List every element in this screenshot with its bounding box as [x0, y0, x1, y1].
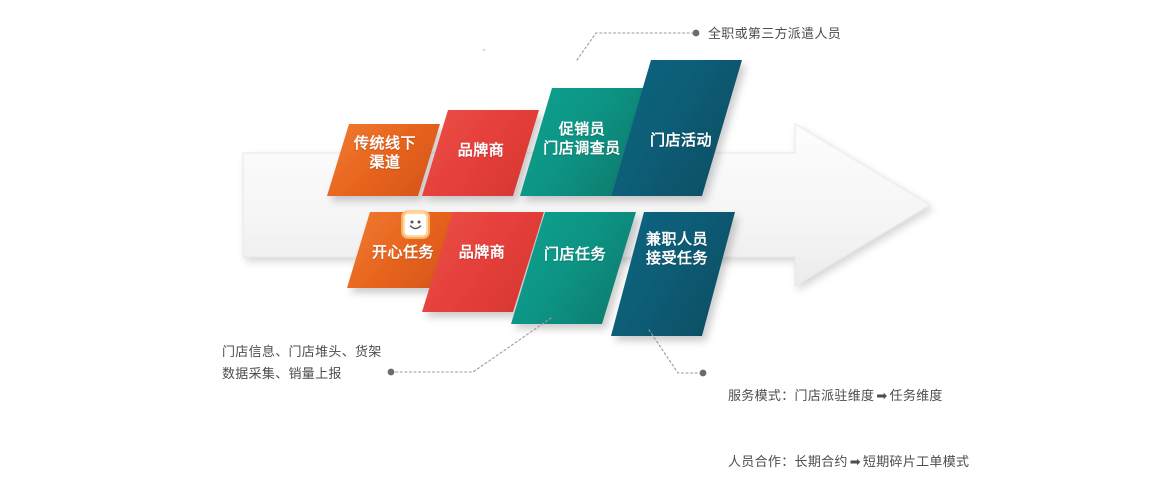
connector-dot-service-mode	[700, 370, 707, 377]
connector-line-data-collection	[388, 318, 551, 375]
connector-dot-staffing	[693, 30, 700, 37]
staff-coop-to: 短期碎片工单模式	[863, 454, 969, 469]
connector-line-staffing	[577, 30, 699, 60]
annotation-staffing-top: 全职或第三方派遣人员	[708, 23, 841, 45]
decorative-speck	[483, 49, 485, 51]
annotation-service-mode-line2: 人员合作：长期合约➡短期碎片工单模式	[728, 429, 969, 473]
service-mode-from: 门店派驻维度	[795, 388, 875, 403]
staff-coop-arrow-icon: ➡	[848, 451, 863, 473]
annotation-data-collection: 门店信息、门店堆头、货架 数据采集、销量上报	[222, 341, 382, 385]
staff-coop-prefix: 人员合作：	[728, 454, 795, 469]
smiley-logo-icon	[403, 212, 428, 237]
connector-line-service-mode	[649, 330, 706, 376]
diagram-canvas: 传统线下 渠道 品牌商 促销员 门店调查员 门店活动 开心任务 品牌商 门店任务…	[0, 0, 1150, 430]
annotation-service-mode: 服务模式：门店派驻维度➡任务维度 人员合作：长期合约➡短期碎片工单模式	[728, 341, 969, 495]
service-mode-to: 任务维度	[890, 388, 943, 403]
staff-coop-from: 长期合约	[795, 454, 848, 469]
annotation-service-mode-line1: 服务模式：门店派驻维度➡任务维度	[728, 363, 969, 407]
diagram-vector-layer	[0, 0, 1150, 430]
service-mode-prefix: 服务模式：	[728, 388, 795, 403]
service-mode-arrow-icon: ➡	[874, 385, 889, 407]
connector-dot-data-collection	[388, 369, 395, 376]
